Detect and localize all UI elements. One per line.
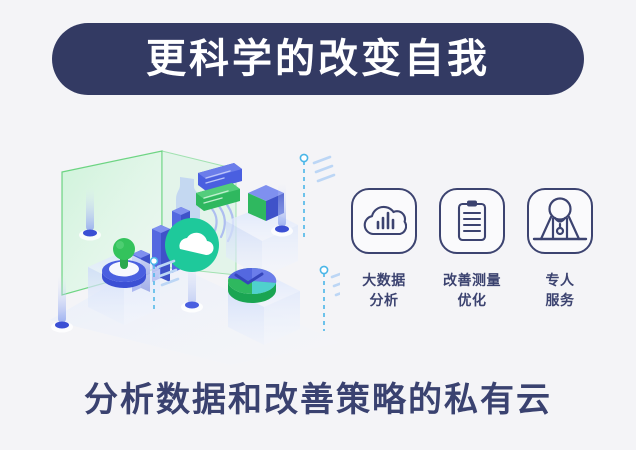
feature-item-dedicated-service[interactable]: 专人 服务 (524, 188, 596, 311)
feature-item-big-data-analysis[interactable]: 大数据 分析 (348, 188, 420, 311)
feature-label: 专人 服务 (546, 270, 575, 311)
feature-list: 大数据 分析 改善测量 优化 (348, 188, 596, 311)
feature-label: 改善测量 优化 (443, 270, 501, 311)
pie-chart-3d (228, 268, 276, 303)
promo-banner: 更科学的改变自我 (0, 0, 636, 450)
footer-headline: 分析数据和改善策略的私有云 (0, 382, 636, 419)
page-title: 更科学的改变自我 (146, 39, 490, 79)
clipboard-icon (439, 188, 505, 254)
feature-label: 大数据 分析 (362, 270, 406, 311)
dashed-connector-upper (300, 154, 334, 239)
title-banner-pill: 更科学的改变自我 (52, 23, 584, 95)
dashed-connector-lower (320, 266, 340, 331)
cloud-bar-chart-icon (351, 188, 417, 254)
isometric-illustration (40, 125, 340, 365)
person-stethoscope-icon (527, 188, 593, 254)
feature-item-improvement-measurement[interactable]: 改善测量 优化 (436, 188, 508, 311)
